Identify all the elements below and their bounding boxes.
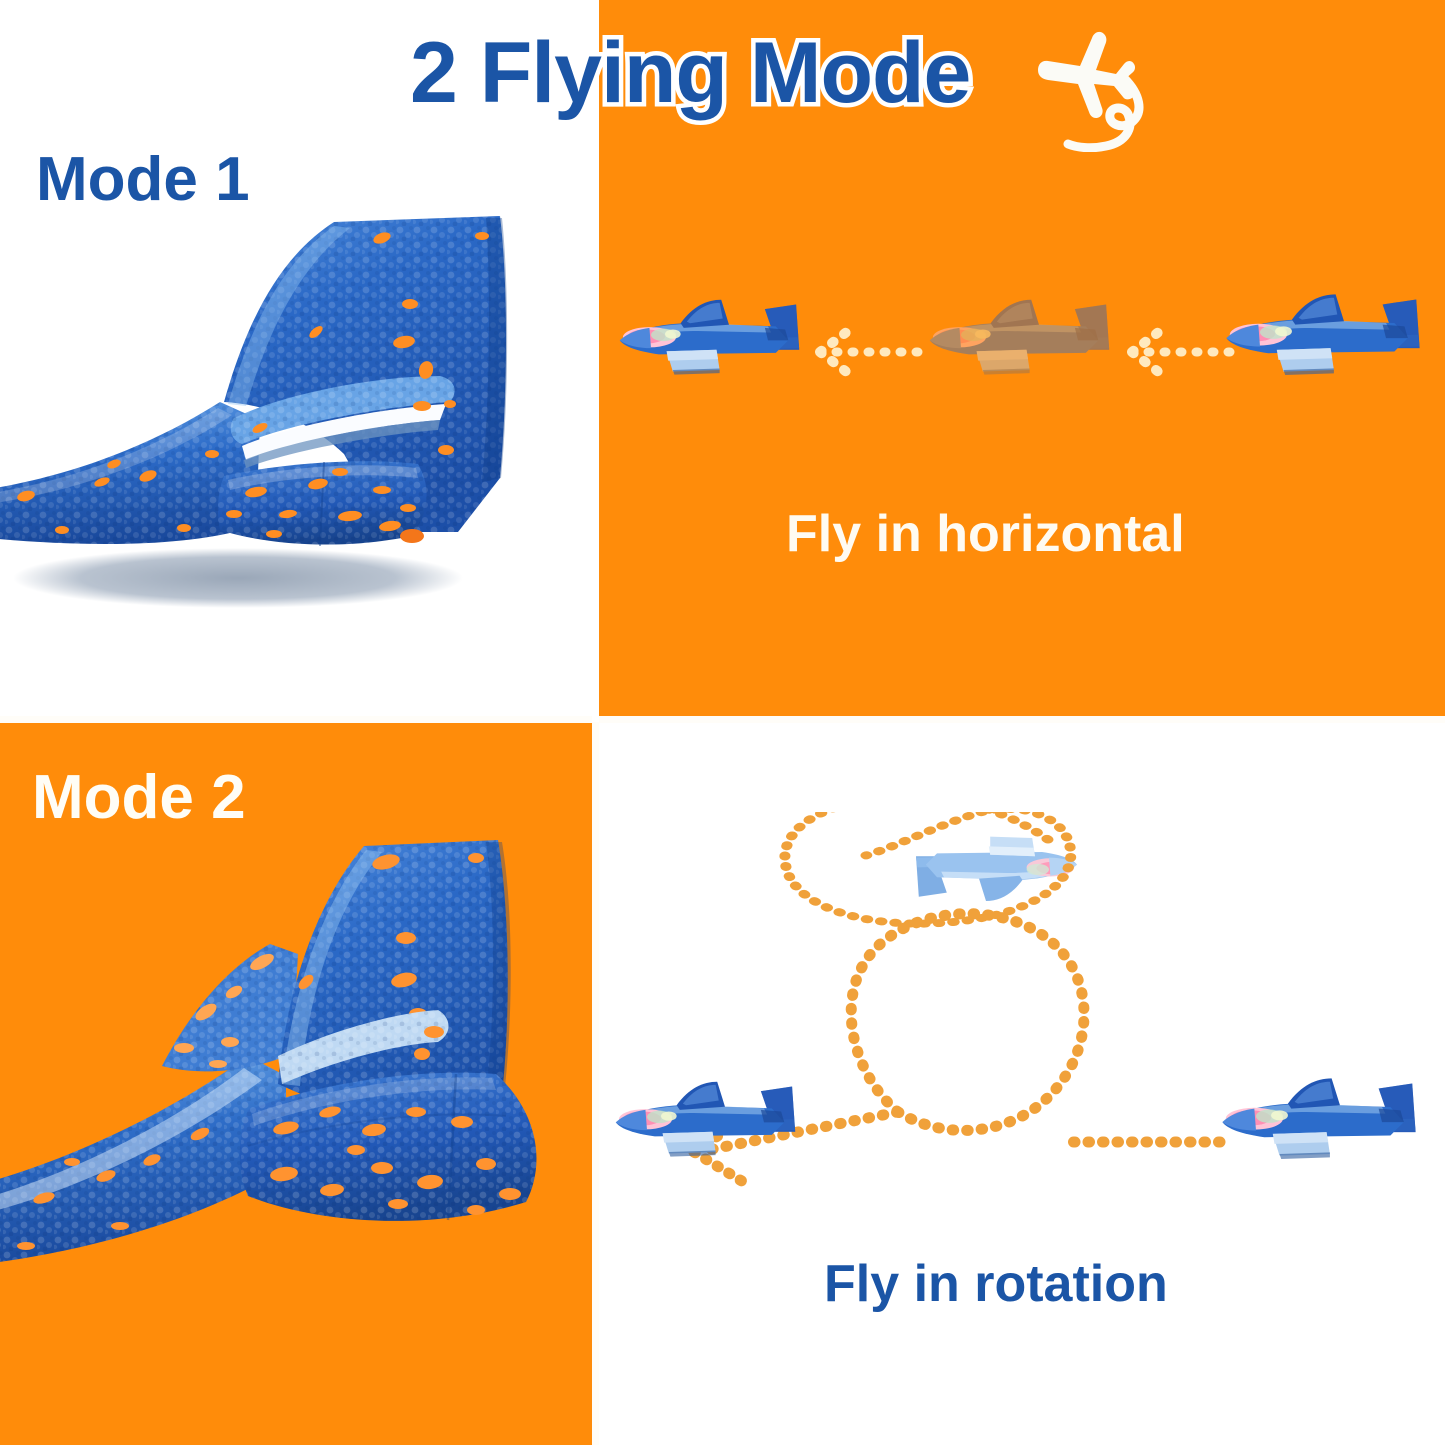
glider-tail-photo-mode2 [0, 816, 566, 1266]
glider-plane-center-ghost [930, 300, 1109, 375]
product-infographic-page: Mode 1 Mode 2 Fly in horizontal Fly in r… [0, 0, 1445, 1445]
dotted-arrow-1 [820, 328, 932, 376]
glider-plane-bottom-right [1222, 1078, 1415, 1159]
horizontal-flight-diagram [598, 268, 1445, 443]
caption-fly-in-rotation: Fly in rotation [824, 1254, 1168, 1314]
rotation-flight-diagram [598, 812, 1445, 1212]
mode-1-label: Mode 1 [36, 144, 250, 215]
glider-plane-bottom-left [616, 1082, 795, 1157]
glider-plane-inverted-top [916, 837, 1077, 901]
mode-2-label: Mode 2 [32, 762, 246, 833]
dotted-loop-oval [851, 914, 1084, 1131]
forward-stabilizer-angled [162, 944, 298, 1071]
dotted-arrow-2 [1132, 328, 1238, 376]
glider-plane-left [620, 300, 799, 375]
lower-tail-wing [218, 461, 427, 546]
glider-plane-right [1226, 294, 1419, 375]
caption-fly-in-horizontal: Fly in horizontal [786, 504, 1185, 564]
quadrant-horizontal-divider [0, 716, 1445, 723]
glider-tail-photo-mode1 [0, 196, 528, 616]
